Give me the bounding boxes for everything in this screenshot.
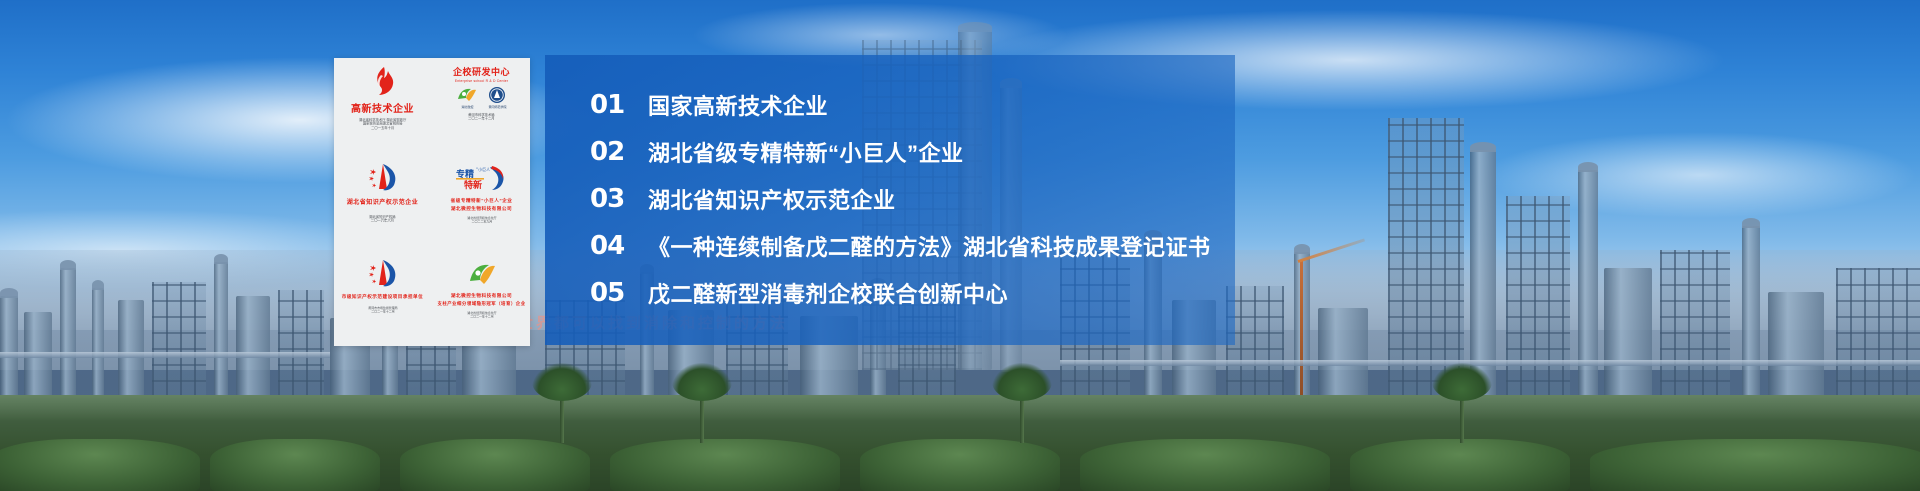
certificate-issuer: 湖北省经济和信息化厅 二〇二一年十二月 (467, 311, 496, 318)
plant-pipe (0, 352, 330, 358)
huanggang-normal-university-logo-icon: 黄冈师范学院 (488, 86, 506, 109)
plant-lattice (1836, 268, 1920, 398)
plant-tower (1742, 226, 1760, 398)
certificate-title: 支柱产业细分领域隐形冠军（培育）企业 (437, 301, 525, 307)
honor-label: 戊二醛新型消毒剂企校联合创新中心 (648, 277, 1008, 309)
hedge (1080, 439, 1330, 491)
certificate-card[interactable]: 湖北省知识产权示范企业 湖北省知识产权局 二〇一六年六月 (334, 155, 431, 250)
certificate-card[interactable]: 湖北微控生物科技有限公司 支柱产业细分领域隐形冠军（培育）企业 湖北省经济和信息… (433, 251, 530, 346)
plant-tower (214, 262, 228, 398)
palm-tree (1460, 389, 1464, 443)
plant-tower (118, 300, 144, 398)
certificate-card[interactable]: 企校研发中心 Enterprise school R & D Center 湖北… (433, 58, 530, 153)
plant-lattice (278, 290, 324, 398)
zhuanjingtexin-icon: 专精 特新 “小巨人” (454, 161, 510, 195)
logo-caption: 湖北微控 (461, 105, 473, 109)
certificate-issuer: 黄冈市市场监督管理局 二〇二一年十二月 (368, 306, 397, 313)
logo-caption: 黄冈师范学院 (488, 105, 506, 109)
star-p-emblem-icon (366, 161, 400, 195)
honor-label: 湖北省知识产权示范企业 (648, 183, 896, 215)
svg-text:特新: 特新 (464, 179, 482, 191)
plant-tower (60, 268, 76, 398)
partner-logos: 湖北微控 黄冈师范学院 (456, 86, 506, 109)
honor-number: 05 (590, 278, 648, 308)
certificate-card[interactable]: 专精 特新 “小巨人” 省级专精特新“小巨人”企业 湖北微控生物科技有限公司 湖… (433, 155, 530, 250)
plant-tower (92, 288, 104, 398)
honor-label: 湖北省级专精特新“小巨人”企业 (648, 136, 964, 168)
certificate-title: 企校研发中心 (453, 65, 510, 78)
hedge (860, 439, 1060, 491)
plant-tower (1604, 268, 1652, 398)
plant-pipe (1060, 360, 1920, 366)
hedge (610, 439, 840, 491)
certificate-card[interactable]: 高新技术企业 湖北省科学技术厅 湖北省财政厅 国家税务总局湖北省税务局 二〇一五… (334, 58, 431, 153)
hedge (1350, 439, 1570, 491)
honor-number: 03 (590, 184, 648, 214)
hedge (210, 439, 380, 491)
plant-lattice (1660, 250, 1730, 398)
certificate-title: 市级知识产权示范建设项目承担单位 (342, 294, 424, 300)
honor-item-04[interactable]: 04 《一种连续制备戊二醛的方法》湖北省科技成果登记证书 (590, 222, 1225, 269)
certificate-title: 省级专精特新“小巨人”企业 (451, 198, 513, 204)
plant-tower (1768, 292, 1824, 398)
hubei-weikong-logo-icon (467, 257, 497, 291)
honor-number: 02 (590, 137, 648, 167)
certificate-company: 湖北微控生物科技有限公司 (451, 206, 512, 212)
certificate-company: 湖北微控生物科技有限公司 (451, 293, 512, 299)
certificate-issuer: 黄冈市科学技术局 二〇二一年十二月 (468, 113, 494, 121)
plant-lattice (152, 282, 206, 398)
palm-tree (1020, 389, 1024, 443)
plant-lattice (1506, 196, 1570, 398)
flame-emblem-icon (370, 64, 396, 98)
banner-stage: 全世界都可以找到消除和控制的方法 高新技术企业 湖北省科学技术厅 湖北省财政厅 … (0, 0, 1920, 491)
honor-label: 国家高新技术企业 (648, 89, 828, 121)
palm-tree (560, 389, 564, 443)
palm-tree (700, 389, 704, 443)
honor-number: 04 (590, 231, 648, 261)
certificate-collage: 高新技术企业 湖北省科学技术厅 湖北省财政厅 国家税务总局湖北省税务局 二〇一五… (334, 58, 530, 346)
honors-panel: 01 国家高新技术企业 02 湖北省级专精特新“小巨人”企业 03 湖北省知识产… (545, 55, 1235, 345)
certificate-issuer: 湖北省经济和信息化厅 二〇二二年九月 (467, 216, 496, 223)
honor-item-03[interactable]: 03 湖北省知识产权示范企业 (590, 175, 1225, 222)
hubei-weikong-logo-icon: 湖北微控 (456, 86, 478, 109)
certificate-issuer: 湖北省知识产权局 二〇一六年六月 (369, 215, 395, 223)
honor-item-01[interactable]: 01 国家高新技术企业 (590, 81, 1225, 128)
construction-crane (1300, 260, 1303, 398)
plant-tower (0, 296, 18, 398)
honor-item-05[interactable]: 05 戊二醛新型消毒剂企校联合创新中心 (590, 269, 1225, 316)
honor-label: 《一种连续制备戊二醛的方法》湖北省科技成果登记证书 (648, 230, 1211, 262)
star-p-emblem-icon (366, 257, 400, 291)
plant-lattice (1388, 118, 1464, 398)
plant-tower (236, 296, 270, 398)
honors-list: 01 国家高新技术企业 02 湖北省级专精特新“小巨人”企业 03 湖北省知识产… (590, 81, 1225, 316)
certificate-issuer: 湖北省科学技术厅 湖北省财政厅 国家税务总局湖北省税务局 二〇一五年十月 (359, 118, 406, 130)
hedge (0, 439, 200, 491)
certificate-title: 高新技术企业 (351, 100, 414, 115)
svg-text:“小巨人”: “小巨人” (476, 166, 492, 172)
certificate-title-en: Enterprise school R & D Center (455, 79, 508, 83)
hedge (400, 439, 590, 491)
hedge (1590, 439, 1920, 491)
certificate-card[interactable]: 市级知识产权示范建设项目承担单位 黄冈市市场监督管理局 二〇二一年十二月 (334, 251, 431, 346)
honor-item-02[interactable]: 02 湖北省级专精特新“小巨人”企业 (590, 128, 1225, 175)
certificate-title: 湖北省知识产权示范企业 (347, 197, 419, 206)
plant-tower (1318, 308, 1368, 398)
honor-number: 01 (590, 90, 648, 120)
